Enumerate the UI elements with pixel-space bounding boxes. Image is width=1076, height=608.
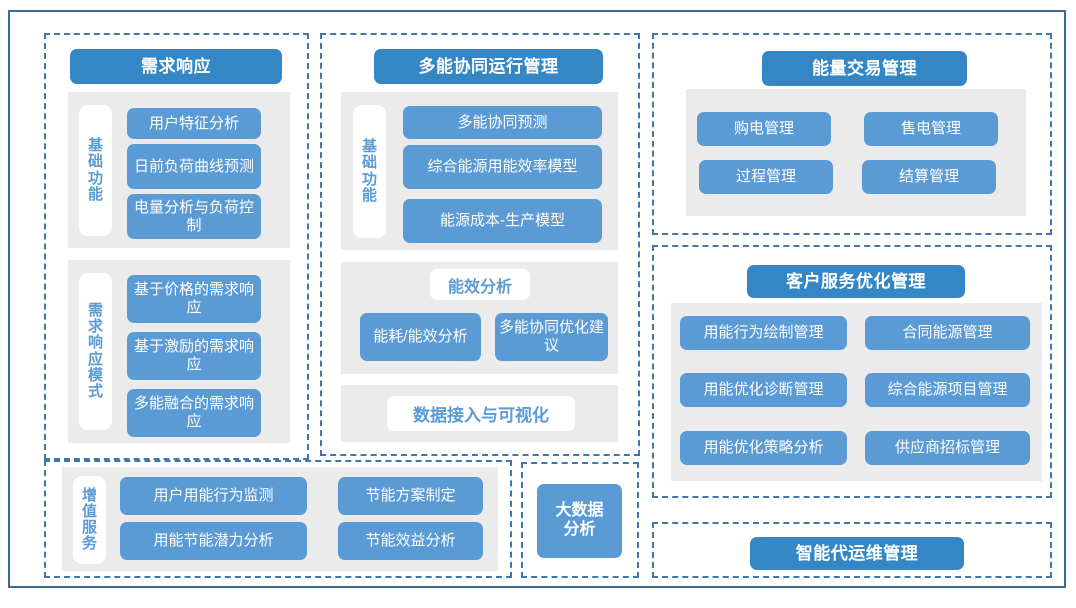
header-energy-trading: 能量交易管理 <box>762 51 967 86</box>
item-price-based-dr[interactable]: 基于价格的需求响应 <box>127 275 261 323</box>
header-demand-response: 需求响应 <box>70 49 282 84</box>
item-user-feature-analysis[interactable]: 用户特征分析 <box>127 108 261 139</box>
item-power-purchase-management[interactable]: 购电管理 <box>697 112 831 146</box>
item-supplier-bidding-management[interactable]: 供应商招标管理 <box>865 431 1030 465</box>
diagram-canvas: 需求响应 基础功能 用户特征分析 日前负荷曲线预测 电量分析与负荷控制 需求响应… <box>0 0 1076 608</box>
vlabel-middle-basic-text: 基础功能 <box>361 139 378 204</box>
item-process-management[interactable]: 过程管理 <box>699 160 833 194</box>
header-smart-ops: 智能代运维管理 <box>750 537 964 570</box>
item-multi-energy-optimization-advice[interactable]: 多能协同优化建议 <box>495 313 608 361</box>
big-data-line2: 分析 <box>555 521 603 540</box>
item-power-analysis-load-control[interactable]: 电量分析与负荷控制 <box>127 194 261 239</box>
vlabel-left-dr-modes: 需求响应模式 <box>79 273 112 430</box>
header-multi-energy: 多能协同运行管理 <box>374 49 603 84</box>
panel-energy-trading <box>686 89 1026 216</box>
vlabel-middle-basic: 基础功能 <box>353 105 386 238</box>
item-energy-consumption-efficiency-analysis[interactable]: 能耗/能效分析 <box>360 313 481 361</box>
vlabel-left-basic: 基础功能 <box>79 105 112 236</box>
item-energy-saving-potential-analysis[interactable]: 用能节能潜力分析 <box>120 522 307 560</box>
item-big-data-analysis[interactable]: 大数据 分析 <box>537 484 622 558</box>
subheader-efficiency-analysis: 能效分析 <box>430 269 530 300</box>
item-power-sales-management[interactable]: 售电管理 <box>864 112 998 146</box>
item-multi-energy-dr[interactable]: 多能融合的需求响应 <box>127 389 261 437</box>
item-contract-energy-management[interactable]: 合同能源管理 <box>865 316 1030 350</box>
item-user-energy-behavior-monitor[interactable]: 用户用能行为监测 <box>120 477 307 515</box>
header-customer-service: 客户服务优化管理 <box>747 265 965 298</box>
item-energy-saving-plan[interactable]: 节能方案制定 <box>338 477 483 515</box>
item-settlement-management[interactable]: 结算管理 <box>862 160 996 194</box>
vlabel-left-dr-modes-text: 需求响应模式 <box>87 303 104 400</box>
big-data-line1: 大数据 <box>555 502 603 521</box>
item-integrated-energy-efficiency-model[interactable]: 综合能源用能效率模型 <box>403 145 602 189</box>
item-multi-energy-forecast[interactable]: 多能协同预测 <box>403 106 602 139</box>
vlabel-value-added-text: 增值服务 <box>81 488 98 553</box>
item-integrated-energy-project-management[interactable]: 综合能源项目管理 <box>865 373 1030 407</box>
item-energy-behavior-profiling[interactable]: 用能行为绘制管理 <box>680 316 847 350</box>
item-energy-optimization-diagnosis[interactable]: 用能优化诊断管理 <box>680 373 847 407</box>
item-energy-optimization-strategy-analysis[interactable]: 用能优化策略分析 <box>680 431 847 465</box>
item-energy-cost-production-model[interactable]: 能源成本-生产模型 <box>403 199 602 243</box>
subheader-data-access-visualization: 数据接入与可视化 <box>387 396 575 431</box>
item-incentive-based-dr[interactable]: 基于激励的需求响应 <box>127 332 261 380</box>
vlabel-left-basic-text: 基础功能 <box>87 138 104 203</box>
item-energy-saving-benefit-analysis[interactable]: 节能效益分析 <box>338 522 483 560</box>
vlabel-value-added: 增值服务 <box>73 476 106 564</box>
item-day-ahead-load-forecast[interactable]: 日前负荷曲线预测 <box>127 144 261 189</box>
